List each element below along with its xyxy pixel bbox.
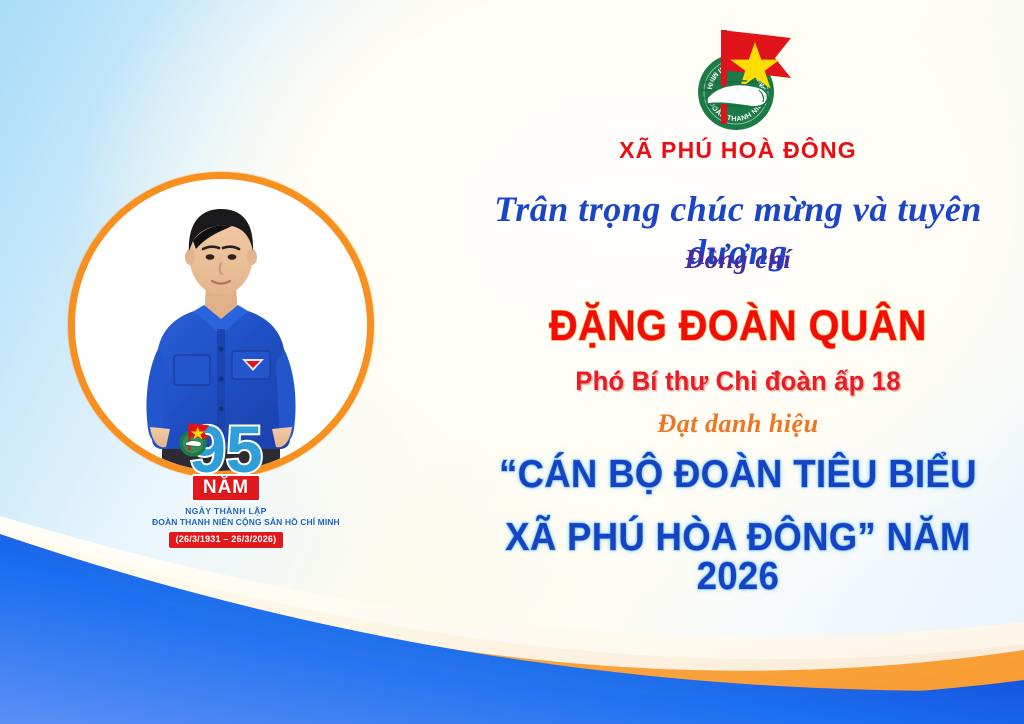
comrade-label: Đồng chí (452, 243, 1024, 275)
award-title-line-2: XÃ PHÚ HÒA ĐÔNG” NĂM 2026 (472, 518, 1004, 596)
anniversary-badge: 95 NĂM NGÀY THÀNH LẬP ĐOÀN THANH NIÊN CỘ… (152, 416, 300, 556)
anniversary-dates: (26/3/1931 – 26/3/2026) (168, 531, 285, 549)
doan-thanh-nien-emblem-icon: ĐOÀN THANH NIÊN CỘNG SẢN HỒ CHÍ MINH (673, 24, 803, 136)
anniversary-number-95: 95 (152, 416, 300, 478)
poster-content-column: ĐOÀN THANH NIÊN CỘNG SẢN HỒ CHÍ MINH (452, 0, 1024, 724)
congratulation-poster: Chân dung đồng chí Đặng Đoàn Quân mặc áo… (0, 0, 1024, 724)
anniversary-line-2: ĐOÀN THANH NIÊN CỘNG SẢN HỒ CHÍ MINH (152, 517, 300, 528)
honoree-name: ĐẶNG ĐOÀN QUÂN (475, 305, 1001, 348)
anniversary-unit-label: NĂM (191, 474, 261, 502)
anniversary-line-1: NGÀY THÀNH LẬP (152, 506, 300, 517)
achieved-label: Đạt danh hiệu (452, 408, 1024, 439)
organization-name: XÃ PHÚ HOÀ ĐÔNG (452, 138, 1024, 163)
honoree-photo-alt: Chân dung đồng chí Đặng Đoàn Quân mặc áo… (75, 179, 76, 180)
honoree-role: Phó Bí thư Chi đoàn ấp 18 (466, 368, 1009, 395)
award-title-line-1: “CÁN BỘ ĐOÀN TIÊU BIỂU (472, 455, 1004, 494)
